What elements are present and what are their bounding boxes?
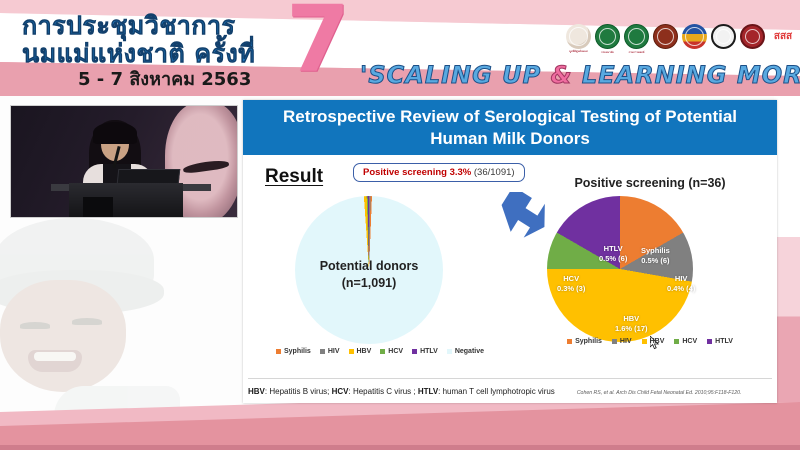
- legend-label-syphilis: Syphilis: [284, 348, 311, 355]
- logo-ring: [685, 27, 704, 46]
- sss-logo-text: สสส: [774, 32, 792, 42]
- abbr-hbv: HBV: [248, 387, 265, 396]
- pie-label-hcv-name: HCV: [557, 274, 585, 284]
- watermark-eye-right: [72, 318, 102, 325]
- legend-swatch-negative: [447, 349, 452, 354]
- legend-item-hcv[interactable]: HCV: [380, 348, 403, 355]
- logo-ring: [716, 29, 731, 44]
- university-maroon-logo: [653, 24, 678, 49]
- pie-label-syphilis-value: 0.5% (6): [641, 256, 670, 266]
- legend-swatch-hcv: [674, 339, 679, 344]
- potential-donors-title: Potential donors: [295, 258, 443, 275]
- positive-screening-callout: Positive screening 3.3% (36/1091): [353, 163, 525, 182]
- logo-caption: กรมการแพทย์: [625, 51, 648, 55]
- abbr-htlv: HTLV: [418, 387, 438, 396]
- pie-label-hcv-value: 0.3% (3): [557, 284, 585, 294]
- legend-item-htlv[interactable]: HTLV: [412, 348, 438, 355]
- pie-label-syphilis-name: Syphilis: [641, 246, 670, 256]
- slogan-part2: LEARNING MORE': [573, 61, 800, 89]
- legend-item-negative[interactable]: Negative: [447, 348, 484, 355]
- abbreviation-definitions: HBV: Hepatitis B virus; HCV: Hepatitis C…: [248, 387, 555, 396]
- abbr-htlv-meaning: human T cell lymphotropic virus: [443, 387, 555, 396]
- legend-label-hiv: HIV: [328, 348, 340, 355]
- pie-label-hiv: HIV 0.4% (4): [667, 274, 695, 294]
- footer-band-edge: [0, 445, 800, 450]
- potential-donors-legend: Syphilis HIV HBV HCV HTLV Negative: [261, 348, 499, 355]
- thaihealth-sss-logo: สสส: [769, 24, 797, 49]
- legend-item-hbv[interactable]: HBV: [642, 338, 665, 345]
- conference-slogan: 'SCALING UP & LEARNING MORE': [360, 61, 800, 89]
- legend-swatch-syphilis: [276, 349, 281, 354]
- legend-label-hcv: HCV: [682, 338, 697, 345]
- positive-screening-pie: Syphilis 0.5% (6) HIV 0.4% (4) HBV 1.6% …: [547, 196, 693, 342]
- presentation-slide: Retrospective Review of Serological Test…: [243, 100, 777, 403]
- conference-date: 5 - 7 สิงหาคม 2563: [78, 64, 251, 93]
- legend-swatch-hbv: [642, 339, 647, 344]
- pie-label-htlv-name: HTLV: [599, 244, 627, 254]
- screenshot-root: การประชุมวิชาการ นมแม่แห่งชาติ ครั้งที่ …: [0, 0, 800, 450]
- result-heading: Result: [265, 166, 323, 188]
- pie-label-syphilis: Syphilis 0.5% (6): [641, 246, 670, 266]
- legend-item-htlv[interactable]: HTLV: [707, 338, 733, 345]
- legend-swatch-hiv: [612, 339, 617, 344]
- black-ring-logo: [711, 24, 736, 49]
- potential-donors-center-label: Potential donors (n=1,091): [295, 258, 443, 292]
- legend-label-htlv: HTLV: [420, 348, 438, 355]
- legend-swatch-htlv: [707, 339, 712, 344]
- legend-swatch-hiv: [320, 349, 325, 354]
- slogan-part1: 'SCALING UP: [360, 61, 551, 89]
- logo-ring: [599, 28, 616, 45]
- legend-label-hbv: HBV: [650, 338, 665, 345]
- pie-label-hiv-value: 0.4% (4): [667, 284, 695, 294]
- callout-fraction-text: (36/1091): [474, 167, 515, 178]
- legend-item-hiv[interactable]: HIV: [612, 338, 632, 345]
- legend-item-hcv[interactable]: HCV: [674, 338, 697, 345]
- abbr-hcv-meaning: Hepatitis C virus: [353, 387, 411, 396]
- callout-percentage-text: Positive screening 3.3%: [363, 167, 471, 178]
- positive-screening-chart: Positive screening (n=36) Syphilis 0.5% …: [525, 176, 775, 356]
- slogan-ampersand: &: [551, 61, 573, 89]
- slide-title: Retrospective Review of Serological Test…: [243, 100, 777, 155]
- ministry-health-green-logo: กรมอนามัย: [595, 24, 620, 49]
- positive-screening-legend: Syphilis HIV HBV HCV HTLV: [525, 338, 775, 345]
- legend-item-syphilis[interactable]: Syphilis: [276, 348, 311, 355]
- conference-header-banner: การประชุมวิชาการ นมแม่แห่งชาติ ครั้งที่ …: [0, 0, 800, 96]
- legend-label-hiv: HIV: [620, 338, 632, 345]
- abbr-hbv-meaning: Hepatitis B virus: [269, 387, 327, 396]
- sponsor-logo-row: มูลนิธิศูนย์นมแม่ กรมอนามัย กรมการแพทย์ …: [566, 24, 797, 49]
- speaker-video-thumbnail[interactable]: [10, 105, 238, 218]
- source-citation: Cohen RS, et al. Arch Dis Child Fetal Ne…: [577, 390, 742, 396]
- logo-ring: [657, 28, 674, 45]
- health-dept-green-logo: กรมการแพทย์: [624, 24, 649, 49]
- positive-screening-title: Positive screening (n=36): [525, 176, 775, 190]
- conference-edition-number: 7: [286, 0, 350, 86]
- right-pink-strip: [774, 96, 800, 402]
- logo-ring: [569, 27, 588, 46]
- logo-ring: [628, 28, 645, 45]
- pie-label-htlv-value: 0.5% (6): [599, 254, 627, 264]
- watermark-face: [0, 280, 126, 392]
- podium-front-panel: [83, 197, 113, 217]
- potential-donors-chart: Potential donors (n=1,091) Syphilis HIV …: [261, 196, 499, 346]
- potential-donors-subtitle: (n=1,091): [295, 275, 443, 292]
- sep2: ;: [411, 387, 418, 396]
- logo-ring: [745, 29, 760, 44]
- abbr-hcv: HCV: [332, 387, 349, 396]
- legend-item-hiv[interactable]: HIV: [320, 348, 340, 355]
- watermark-eye-left: [20, 322, 50, 329]
- royal-college-logo: [682, 24, 707, 49]
- royal-seal-logo: มูลนิธิศูนย์นมแม่: [566, 24, 591, 49]
- watermark-teeth: [34, 352, 76, 361]
- logo-caption: กรมอนามัย: [596, 51, 619, 55]
- legend-swatch-hcv: [380, 349, 385, 354]
- legend-swatch-syphilis: [567, 339, 572, 344]
- legend-label-htlv: HTLV: [715, 338, 733, 345]
- red-crest-logo: [740, 24, 765, 49]
- speaker-hair-top: [93, 122, 137, 144]
- legend-item-syphilis[interactable]: Syphilis: [567, 338, 602, 345]
- footnote-divider: [248, 378, 772, 379]
- legend-label-syphilis: Syphilis: [575, 338, 602, 345]
- slide-footnote: HBV: Hepatitis B virus; HCV: Hepatitis C…: [248, 387, 772, 396]
- legend-label-negative: Negative: [455, 348, 484, 355]
- pie-label-hbv: HBV 1.6% (17): [615, 314, 648, 334]
- pie-label-hbv-value: 1.6% (17): [615, 324, 648, 334]
- legend-swatch-htlv: [412, 349, 417, 354]
- logo-caption: มูลนิธิศูนย์นมแม่: [566, 50, 591, 54]
- legend-label-hcv: HCV: [388, 348, 403, 355]
- pie-label-hcv: HCV 0.3% (3): [557, 274, 585, 294]
- legend-label-hbv: HBV: [357, 348, 372, 355]
- pie-label-hiv-name: HIV: [667, 274, 695, 284]
- legend-swatch-hbv: [349, 349, 354, 354]
- pie-label-htlv: HTLV 0.5% (6): [599, 244, 627, 264]
- legend-item-hbv[interactable]: HBV: [349, 348, 372, 355]
- pie-label-hbv-name: HBV: [615, 314, 648, 324]
